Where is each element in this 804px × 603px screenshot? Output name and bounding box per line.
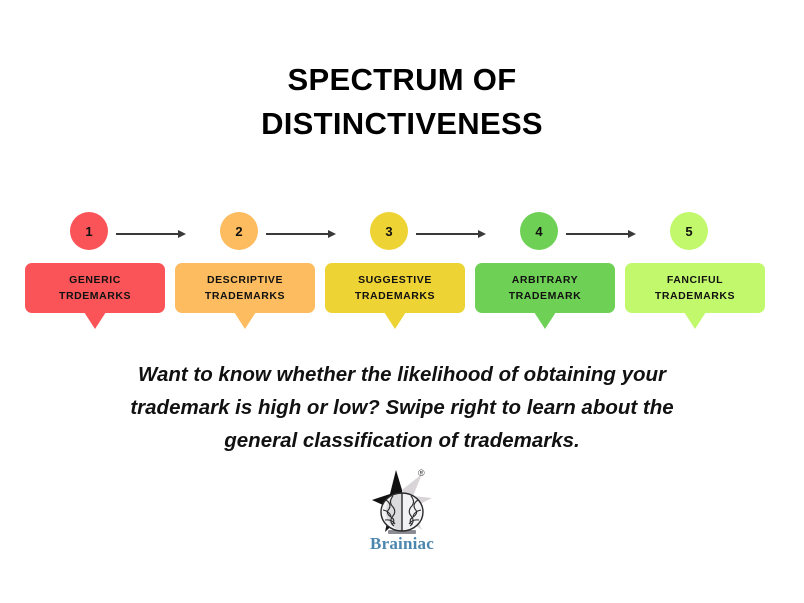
arrow-shaft: [416, 233, 480, 235]
registered-trademark-symbol: ®: [418, 468, 425, 478]
infographic-canvas: SPECTRUM OF DISTINCTIVENESS 1GENERIC TRD…: [0, 0, 804, 603]
step-label-box: DESCRIPTIVE TRADEMARKS: [175, 263, 315, 313]
callout-tail: [384, 312, 406, 329]
callout-tail: [234, 312, 256, 329]
arrow-shaft: [566, 233, 630, 235]
spectrum-step-1: 1GENERIC TRDEMARKS: [25, 205, 165, 330]
callout-tail: [84, 312, 106, 329]
arrow-shaft: [116, 233, 180, 235]
step-number-badge: 1: [70, 212, 108, 250]
callout-tail: [534, 312, 556, 329]
spectrum-step-3: 3SUGGESTIVE TRADEMARKS: [325, 205, 465, 330]
spectrum-step-2: 2DESCRIPTIVE TRADEMARKS: [175, 205, 315, 330]
step-label-box: ARBITRARY TRADEMARK: [475, 263, 615, 313]
step-label-box: FANCIFUL TRADEMARKS: [625, 263, 765, 313]
brand-logo: ® Brainiac: [352, 468, 452, 563]
arrow-shaft: [266, 233, 330, 235]
step-number-badge: 4: [520, 212, 558, 250]
brain-pen-nib-icon: [352, 468, 452, 538]
brand-wordmark: Brainiac: [352, 534, 452, 554]
body-paragraph: Want to know whether the likelihood of o…: [95, 358, 709, 458]
spectrum-step-5: 5FANCIFUL TRADEMARKS: [625, 205, 765, 330]
callout-tail: [684, 312, 706, 329]
step-label-box: SUGGESTIVE TRADEMARKS: [325, 263, 465, 313]
page-title: SPECTRUM OF DISTINCTIVENESS: [0, 58, 804, 146]
step-label-box: GENERIC TRDEMARKS: [25, 263, 165, 313]
step-number-badge: 5: [670, 212, 708, 250]
step-number-badge: 2: [220, 212, 258, 250]
spectrum-step-4: 4ARBITRARY TRADEMARK: [475, 205, 615, 330]
distinctiveness-spectrum: 1GENERIC TRDEMARKS2DESCRIPTIVE TRADEMARK…: [25, 205, 779, 330]
step-number-badge: 3: [370, 212, 408, 250]
